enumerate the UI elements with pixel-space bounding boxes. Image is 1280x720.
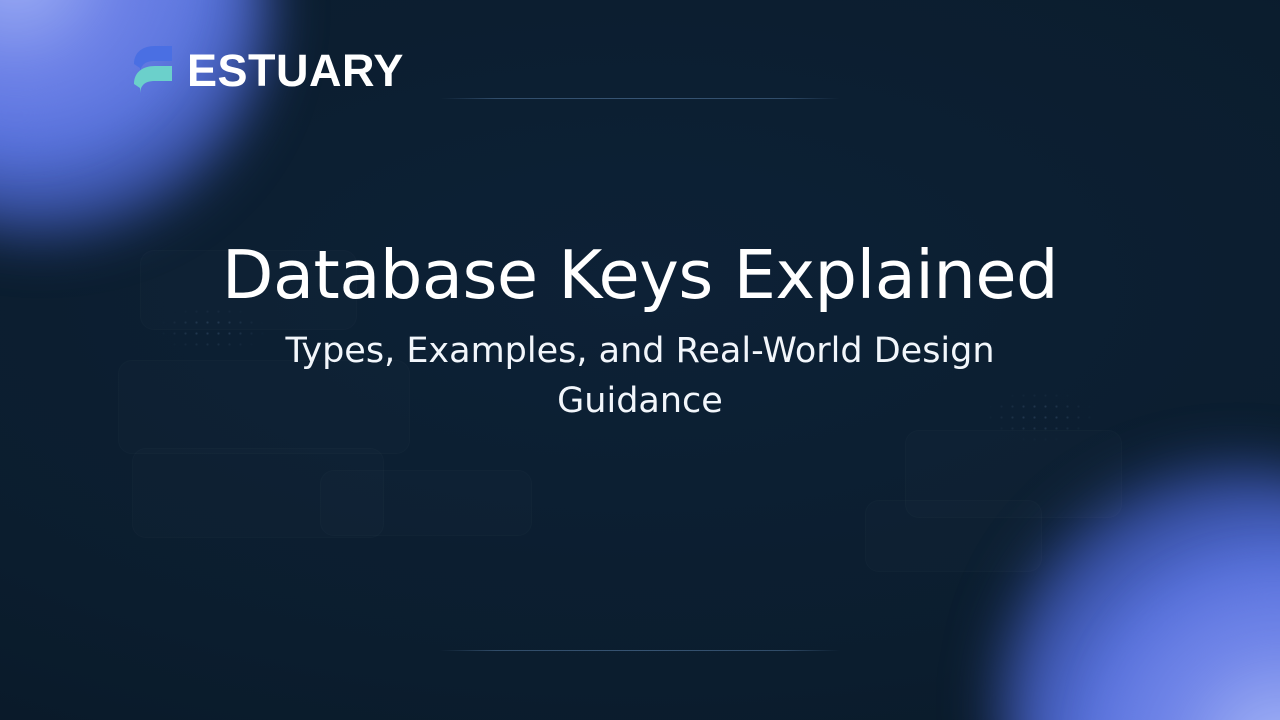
estuary-logo[interactable]: ESTUARY xyxy=(131,44,404,96)
page-subtitle: Types, Examples, and Real-World Design G… xyxy=(255,327,1025,426)
page-title: Database Keys Explained xyxy=(120,238,1160,313)
estuary-wave-logo-icon xyxy=(131,44,175,96)
bottom-divider xyxy=(440,650,840,651)
hero-content: Database Keys Explained Types, Examples,… xyxy=(0,238,1280,426)
decorative-panel xyxy=(865,500,1042,572)
estuary-wordmark: ESTUARY xyxy=(187,48,404,93)
decorative-panel xyxy=(320,470,532,536)
top-divider xyxy=(440,98,840,99)
title-slide: ESTUARY Database Keys Explained Types, E… xyxy=(0,0,1280,720)
